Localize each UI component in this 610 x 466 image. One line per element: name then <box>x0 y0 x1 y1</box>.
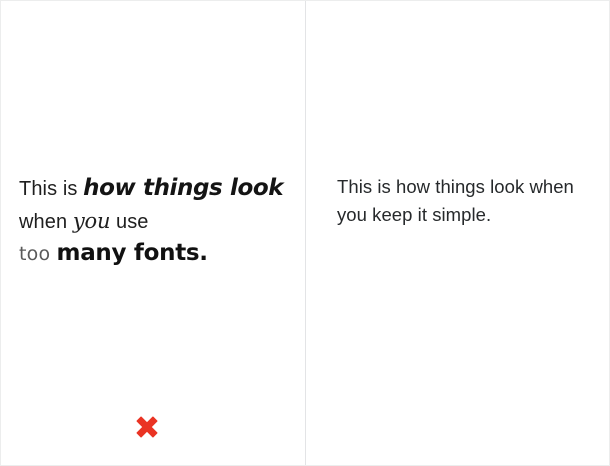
panel-keep-it-simple: This is how things look when you keep it… <box>306 1 609 465</box>
bad-text-segment-plain-2: when <box>19 211 73 233</box>
bad-text-segment-bold-italic: how things look <box>83 175 283 201</box>
panel-too-many-fonts: This is how things look when you use too… <box>1 1 306 465</box>
good-example-text-block: This is how things look when you keep it… <box>337 173 587 229</box>
bad-text-segment-plain-1: This is <box>19 178 83 200</box>
bad-text-segment-light: too <box>19 243 57 265</box>
bad-text-segment-script: you <box>73 209 110 233</box>
bad-text-segment-plain-3: use <box>110 211 148 233</box>
bad-text-line-1: This is how things look <box>19 173 289 205</box>
bad-text-segment-heavy: many fonts. <box>57 240 208 266</box>
bad-text-line-3: too many fonts. <box>19 238 289 270</box>
cross-mark-icon <box>127 407 167 447</box>
comparison-canvas: This is how things look when you use too… <box>0 0 610 466</box>
bad-text-line-2: when you use <box>19 207 289 237</box>
bad-example-text-block: This is how things look when you use too… <box>19 173 289 270</box>
